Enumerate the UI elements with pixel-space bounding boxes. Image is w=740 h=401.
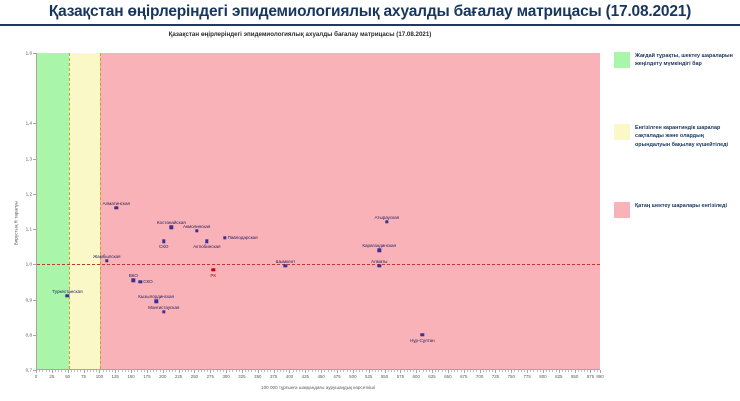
x-tick-minor-mark (77, 370, 78, 372)
x-tick-label: 125 (112, 374, 119, 379)
x-tick-mark (84, 370, 85, 373)
data-point (139, 280, 142, 283)
data-point (377, 249, 380, 252)
data-point-label: Нұр-Сұлтан (410, 338, 435, 343)
data-point (170, 226, 173, 229)
legend-color-swatch (614, 124, 630, 140)
x-tick-mark (527, 370, 528, 373)
y-axis-ticks: 0,70,80,91,01,11,21,31,41,6 (0, 53, 36, 370)
x-tick-label: 175 (143, 374, 150, 379)
x-tick-minor-mark (442, 370, 443, 372)
x-tick-minor-mark (505, 370, 506, 372)
x-tick-minor-mark (118, 370, 119, 372)
x-tick-minor-mark (80, 370, 81, 372)
x-tick-label: 890 (596, 374, 603, 379)
x-tick-label: 825 (555, 374, 562, 379)
legend-item: Жағдай тұрақты, шектеу шараларын жеңілде… (614, 52, 740, 69)
x-tick-minor-mark (42, 370, 43, 372)
data-point-label: ВКО (129, 273, 138, 278)
x-tick-minor-mark (375, 370, 376, 372)
x-tick-minor-mark (533, 370, 534, 372)
x-tick-minor-mark (106, 370, 107, 372)
data-point-label: Костанайская (157, 220, 186, 225)
x-tick-minor-mark (518, 370, 519, 372)
x-tick-minor-mark (74, 370, 75, 372)
data-point-label: СКО (159, 244, 168, 249)
x-tick-label: 100 (96, 374, 103, 379)
x-tick-minor-mark (546, 370, 547, 372)
x-tick-label: 500 (349, 374, 356, 379)
x-tick-minor-mark (296, 370, 297, 372)
x-tick-minor-mark (302, 370, 303, 372)
x-tick-minor-mark (191, 370, 192, 372)
x-tick-mark (511, 370, 512, 373)
x-tick-minor-mark (381, 370, 382, 372)
data-point-label: РК (210, 273, 216, 278)
x-tick-label: 525 (365, 374, 372, 379)
zone-green-lower-band (37, 264, 69, 369)
x-tick-minor-mark (49, 370, 50, 372)
x-tick-minor-mark (264, 370, 265, 372)
data-point-label: Атырауская (374, 215, 399, 220)
x-tick-minor-mark (350, 370, 351, 372)
x-tick-minor-mark (160, 370, 161, 372)
x-tick-minor-mark (451, 370, 452, 372)
x-tick-minor-mark (499, 370, 500, 372)
x-tick-mark (163, 370, 164, 373)
x-tick-minor-mark (473, 370, 474, 372)
x-tick-minor-mark (502, 370, 503, 372)
x-tick-minor-mark (568, 370, 569, 372)
x-tick-minor-mark (109, 370, 110, 372)
x-tick-label: 875 (587, 374, 594, 379)
legend-item: Қатаң шектеу шаралары енгізіледі (614, 202, 740, 218)
x-tick-label: 850 (571, 374, 578, 379)
x-tick-minor-mark (308, 370, 309, 372)
x-tick-minor-mark (388, 370, 389, 372)
x-tick-minor-mark (156, 370, 157, 372)
data-point-label: Шымкент (276, 259, 296, 264)
x-tick-minor-mark (175, 370, 176, 372)
legend-item-label: Қатаң шектеу шаралары енгізіледі (635, 202, 735, 218)
x-tick-label: 450 (317, 374, 324, 379)
chart-subtitle: Қазақстан өңірлеріндегі эпидемиологиялық… (0, 31, 600, 38)
x-tick-minor-mark (565, 370, 566, 372)
x-tick-mark (321, 370, 322, 373)
y-tick-label: 1,1 (26, 227, 32, 232)
x-tick-mark (115, 370, 116, 373)
x-tick-minor-mark (71, 370, 72, 372)
x-tick-mark (36, 370, 37, 373)
x-tick-minor-mark (65, 370, 66, 372)
x-tick-minor-mark (584, 370, 585, 372)
x-tick-minor-mark (150, 370, 151, 372)
y-tick-label: 0,9 (26, 297, 32, 302)
x-tick-mark (495, 370, 496, 373)
x-axis-title: 100 000 тұрғынға шаққандағы аурушаңдық к… (36, 385, 600, 390)
x-tick-mark (179, 370, 180, 373)
x-tick-label: 300 (222, 374, 229, 379)
x-tick-label: 775 (523, 374, 530, 379)
x-tick-mark (369, 370, 370, 373)
x-tick-minor-mark (207, 370, 208, 372)
x-tick-minor-mark (172, 370, 173, 372)
x-tick-minor-mark (213, 370, 214, 372)
data-point (377, 264, 380, 267)
x-tick-minor-mark (299, 370, 300, 372)
legend-item-label: Жағдай тұрақты, шектеу шараларын жеңілде… (635, 52, 735, 69)
x-tick-mark (600, 370, 601, 373)
x-tick-minor-mark (467, 370, 468, 372)
data-point (421, 333, 424, 336)
x-tick-minor-mark (470, 370, 471, 372)
x-tick-minor-mark (540, 370, 541, 372)
data-point (162, 310, 165, 313)
x-tick-label: 725 (492, 374, 499, 379)
x-tick-minor-mark (435, 370, 436, 372)
y-tick-label: 1,4 (26, 121, 32, 126)
x-tick-mark (480, 370, 481, 373)
x-tick-minor-mark (404, 370, 405, 372)
x-tick-minor-mark (251, 370, 252, 372)
x-tick-label: 250 (191, 374, 198, 379)
x-tick-minor-mark (457, 370, 458, 372)
x-tick-minor-mark (356, 370, 357, 372)
x-tick-label: 475 (333, 374, 340, 379)
data-point-label: Карагандинская (362, 243, 396, 248)
x-tick-minor-mark (476, 370, 477, 372)
x-tick-minor-mark (277, 370, 278, 372)
x-tick-minor-mark (426, 370, 427, 372)
x-tick-label: 25 (49, 374, 54, 379)
x-tick-minor-mark (359, 370, 360, 372)
x-tick-mark (68, 370, 69, 373)
data-point (162, 240, 165, 243)
x-tick-minor-mark (331, 370, 332, 372)
data-point (195, 229, 198, 232)
x-tick-minor-mark (530, 370, 531, 372)
x-tick-minor-mark (87, 370, 88, 372)
x-tick-minor-mark (141, 370, 142, 372)
x-tick-minor-mark (549, 370, 550, 372)
x-tick-minor-mark (366, 370, 367, 372)
x-tick-minor-mark (362, 370, 363, 372)
data-point (132, 278, 135, 281)
x-tick-minor-mark (521, 370, 522, 372)
x-tick-label: 750 (508, 374, 515, 379)
y-tick-label: 0,7 (26, 368, 32, 373)
x-tick-label: 0 (35, 374, 37, 379)
data-point (105, 259, 108, 262)
x-tick-minor-mark (315, 370, 316, 372)
page-title: Қазақстан өңірлеріндегі эпидемиологиялық… (49, 3, 691, 21)
y-tick-label: 1,0 (26, 262, 32, 267)
x-tick-minor-mark (185, 370, 186, 372)
x-tick-minor-mark (562, 370, 563, 372)
x-tick-label: 800 (539, 374, 546, 379)
x-tick-label: 625 (428, 374, 435, 379)
x-tick-minor-mark (248, 370, 249, 372)
x-tick-minor-mark (103, 370, 104, 372)
x-tick-mark (448, 370, 449, 373)
x-tick-minor-mark (556, 370, 557, 372)
x-tick-minor-mark (96, 370, 97, 372)
data-point (154, 300, 157, 303)
x-tick-label: 50 (65, 374, 70, 379)
x-tick-minor-mark (286, 370, 287, 372)
x-tick-minor-mark (445, 370, 446, 372)
x-tick-minor-mark (410, 370, 411, 372)
x-tick-minor-mark (217, 370, 218, 372)
x-tick-minor-mark (280, 370, 281, 372)
x-tick-minor-mark (46, 370, 47, 372)
x-tick-label: 425 (302, 374, 309, 379)
x-tick-mark (590, 370, 591, 373)
x-tick-minor-mark (486, 370, 487, 372)
chart-container: Вирустың R таралуы 0,70,80,91,01,11,21,3… (0, 44, 612, 401)
legend-item-label: Енгізілген карантиндік шаралар сақталады… (635, 124, 735, 149)
x-tick-minor-mark (423, 370, 424, 372)
x-tick-minor-mark (182, 370, 183, 372)
x-tick-mark (575, 370, 576, 373)
data-point (385, 220, 388, 223)
x-tick-minor-mark (489, 370, 490, 372)
x-tick-minor-mark (239, 370, 240, 372)
x-axis-ticks: 0255075100125150175200225250275300325350… (36, 370, 600, 384)
x-tick-minor-mark (128, 370, 129, 372)
data-point-label: Актюбинская (193, 244, 220, 249)
x-tick-minor-mark (340, 370, 341, 372)
x-tick-mark (194, 370, 195, 373)
x-tick-minor-mark (153, 370, 154, 372)
x-tick-minor-mark (134, 370, 135, 372)
x-tick-mark (416, 370, 417, 373)
x-tick-label: 650 (444, 374, 451, 379)
x-tick-label: 400 (286, 374, 293, 379)
x-tick-minor-mark (347, 370, 348, 372)
zone-divider-green-yellow (69, 53, 70, 369)
data-point-label: Акмолинская (183, 224, 210, 229)
x-tick-label: 375 (270, 374, 277, 379)
x-tick-minor-mark (438, 370, 439, 372)
zone-pink-band (100, 53, 600, 369)
x-tick-minor-mark (122, 370, 123, 372)
x-tick-label: 675 (460, 374, 467, 379)
x-tick-mark (305, 370, 306, 373)
x-tick-minor-mark (483, 370, 484, 372)
y-tick-label: 1,3 (26, 156, 32, 161)
data-point-label: Кызылординская (138, 294, 174, 299)
x-tick-minor-mark (144, 370, 145, 372)
x-tick-minor-mark (267, 370, 268, 372)
x-tick-label: 75 (81, 374, 86, 379)
legend: Жағдай тұрақты, шектеу шараларын жеңілде… (614, 52, 740, 252)
x-tick-minor-mark (508, 370, 509, 372)
x-tick-mark (432, 370, 433, 373)
x-tick-label: 700 (476, 374, 483, 379)
x-tick-minor-mark (61, 370, 62, 372)
data-point-label: СКО (143, 279, 152, 284)
x-tick-mark (147, 370, 148, 373)
y-tick-label: 1,2 (26, 191, 32, 196)
x-tick-label: 275 (207, 374, 214, 379)
x-tick-mark (99, 370, 100, 373)
x-tick-mark (52, 370, 53, 373)
x-tick-minor-mark (229, 370, 230, 372)
x-tick-minor-mark (372, 370, 373, 372)
x-tick-minor-mark (407, 370, 408, 372)
x-tick-minor-mark (394, 370, 395, 372)
x-tick-mark (242, 370, 243, 373)
x-tick-label: 600 (413, 374, 420, 379)
x-tick-minor-mark (578, 370, 579, 372)
x-tick-mark (131, 370, 132, 373)
data-point (205, 240, 208, 243)
x-tick-minor-mark (245, 370, 246, 372)
legend-item: Енгізілген карантиндік шаралар сақталады… (614, 124, 740, 149)
x-tick-minor-mark (166, 370, 167, 372)
x-tick-minor-mark (514, 370, 515, 372)
x-tick-label: 200 (159, 374, 166, 379)
x-tick-label: 575 (397, 374, 404, 379)
x-tick-minor-mark (492, 370, 493, 372)
x-tick-mark (353, 370, 354, 373)
data-point (211, 268, 214, 271)
x-tick-minor-mark (188, 370, 189, 372)
x-tick-mark (464, 370, 465, 373)
x-tick-label: 350 (254, 374, 261, 379)
x-tick-minor-mark (334, 370, 335, 372)
x-tick-minor-mark (312, 370, 313, 372)
x-tick-minor-mark (58, 370, 59, 372)
x-tick-minor-mark (204, 370, 205, 372)
data-point-label: Мангистауская (148, 305, 179, 310)
x-tick-minor-mark (397, 370, 398, 372)
y-tick-label: 0,8 (26, 332, 32, 337)
x-tick-minor-mark (454, 370, 455, 372)
data-point-label: Алматы (371, 259, 387, 264)
x-tick-label: 150 (127, 374, 134, 379)
x-tick-minor-mark (55, 370, 56, 372)
x-tick-minor-mark (597, 370, 598, 372)
zone-yellow-lower-band (69, 264, 101, 369)
x-tick-minor-mark (223, 370, 224, 372)
data-point-label: Туркестанская (52, 289, 82, 294)
x-tick-mark (289, 370, 290, 373)
x-tick-minor-mark (552, 370, 553, 372)
x-tick-minor-mark (137, 370, 138, 372)
x-tick-minor-mark (378, 370, 379, 372)
x-tick-label: 225 (175, 374, 182, 379)
x-tick-label: 325 (238, 374, 245, 379)
x-tick-minor-mark (581, 370, 582, 372)
x-tick-minor-mark (524, 370, 525, 372)
x-tick-minor-mark (318, 370, 319, 372)
x-tick-mark (226, 370, 227, 373)
x-tick-minor-mark (169, 370, 170, 372)
x-tick-minor-mark (93, 370, 94, 372)
data-point-label: Жамбылская (93, 254, 121, 259)
x-tick-mark (400, 370, 401, 373)
x-tick-minor-mark (413, 370, 414, 372)
x-tick-minor-mark (90, 370, 91, 372)
x-tick-minor-mark (429, 370, 430, 372)
x-tick-minor-mark (419, 370, 420, 372)
x-tick-minor-mark (270, 370, 271, 372)
data-point (115, 206, 118, 209)
x-tick-minor-mark (283, 370, 284, 372)
x-tick-minor-mark (112, 370, 113, 372)
x-tick-minor-mark (324, 370, 325, 372)
x-tick-mark (274, 370, 275, 373)
x-tick-minor-mark (461, 370, 462, 372)
zone-divider-yellow-pink (100, 53, 101, 369)
threshold-line-r1 (37, 264, 600, 265)
x-tick-minor-mark (571, 370, 572, 372)
x-tick-mark (337, 370, 338, 373)
x-tick-mark (385, 370, 386, 373)
legend-color-swatch (614, 202, 630, 218)
x-tick-minor-mark (391, 370, 392, 372)
x-tick-mark (210, 370, 211, 373)
x-tick-mark (258, 370, 259, 373)
data-point-label: Алматинская (102, 201, 129, 206)
x-tick-minor-mark (236, 370, 237, 372)
x-tick-minor-mark (587, 370, 588, 372)
data-point (223, 236, 226, 239)
x-tick-minor-mark (39, 370, 40, 372)
x-tick-minor-mark (255, 370, 256, 372)
x-tick-minor-mark (328, 370, 329, 372)
x-tick-minor-mark (293, 370, 294, 372)
page-header: Қазақстан өңірлеріндегі эпидемиологиялық… (0, 0, 740, 26)
data-point (284, 264, 287, 267)
y-tick-label: 1,6 (26, 51, 32, 56)
data-point (66, 294, 69, 297)
x-tick-minor-mark (125, 370, 126, 372)
data-point-label: Павлодарская (228, 235, 258, 240)
x-tick-mark (559, 370, 560, 373)
x-tick-mark (543, 370, 544, 373)
x-tick-minor-mark (198, 370, 199, 372)
legend-color-swatch (614, 52, 630, 68)
x-tick-minor-mark (261, 370, 262, 372)
x-tick-label: 550 (381, 374, 388, 379)
x-tick-minor-mark (220, 370, 221, 372)
x-tick-minor-mark (537, 370, 538, 372)
plot-area: АлматинскаяЖамбылскаяТуркестанскаяВКОСКО… (36, 53, 600, 370)
x-tick-minor-mark (232, 370, 233, 372)
x-tick-minor-mark (201, 370, 202, 372)
x-tick-minor-mark (594, 370, 595, 372)
x-tick-minor-mark (343, 370, 344, 372)
